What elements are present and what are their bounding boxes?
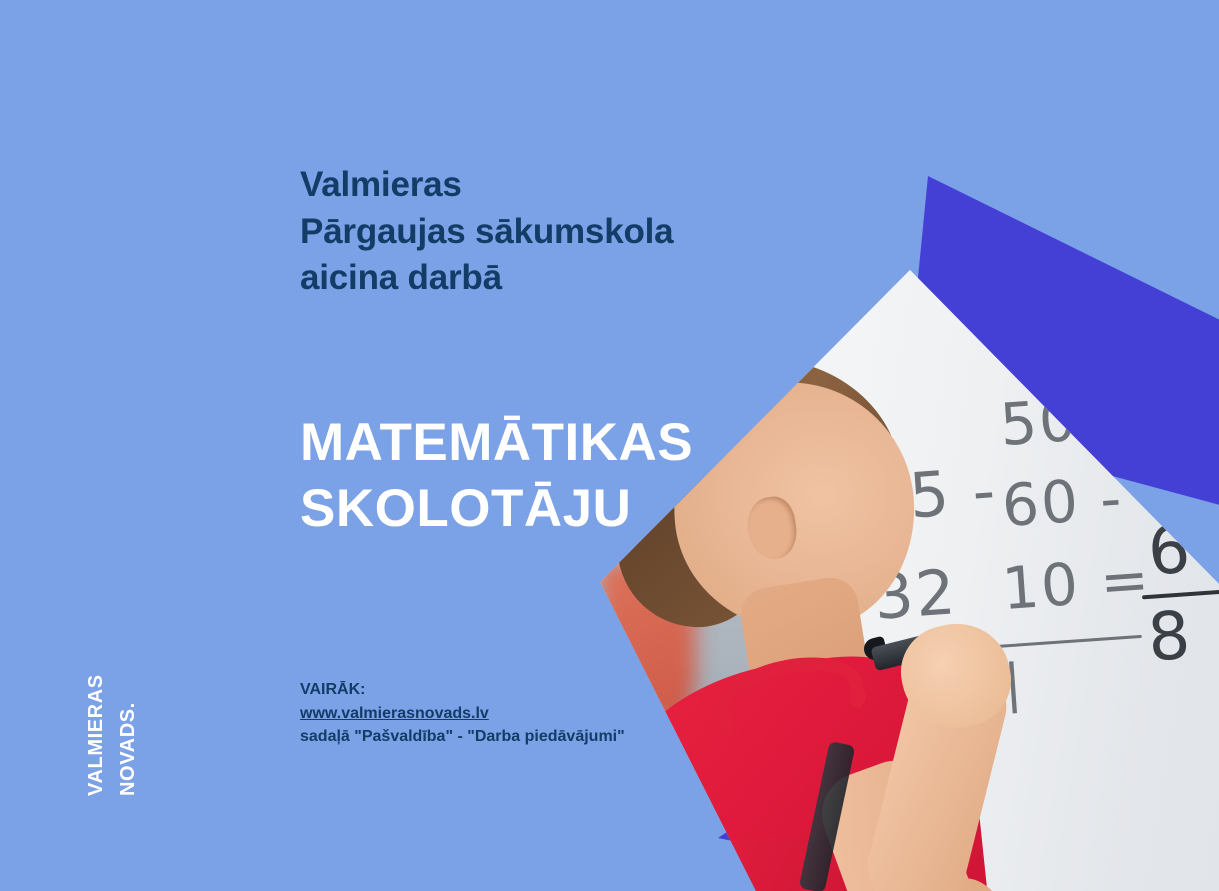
handwriting-far-right-bottom: 8	[1145, 597, 1194, 677]
website-link[interactable]: www.valmierasnovads.lv	[300, 702, 625, 726]
valmieras-novads-logo: VALMIERAS NOVADS.	[104, 616, 174, 796]
heading-line-1: Valmieras	[300, 162, 673, 209]
contact-section: sadaļā "Pašvaldība" - "Darba piedāvājumi…	[300, 725, 625, 749]
page-heading: Valmieras Pārgaujas sākumskola aicina da…	[300, 162, 673, 302]
handwriting-right-2: 60 -	[1000, 464, 1126, 540]
handwriting-far-right-top: 6	[1145, 511, 1194, 591]
handwriting-right-3: 10 =	[1000, 545, 1153, 623]
heading-line-3: aicina darbā	[300, 255, 673, 302]
title-line-2: SKOLOTĀJU	[300, 476, 693, 542]
contact-label: VAIRĀK:	[300, 678, 625, 702]
heading-line-2: Pārgaujas sākumskola	[300, 209, 673, 256]
logo-line-1: VALMIERAS	[85, 674, 108, 796]
page-title: MATEMĀTIKAS SKOLOTĀJU	[300, 410, 693, 543]
logo-line-2: NOVADS.	[117, 702, 140, 796]
title-line-1: MATEMĀTIKAS	[300, 410, 693, 476]
contact-block: VAIRĀK: www.valmierasnovads.lv sadaļā "P…	[300, 678, 625, 749]
poster-canvas: 75 - 32 50 + 60 - 10 = | 6 8	[0, 0, 1219, 891]
